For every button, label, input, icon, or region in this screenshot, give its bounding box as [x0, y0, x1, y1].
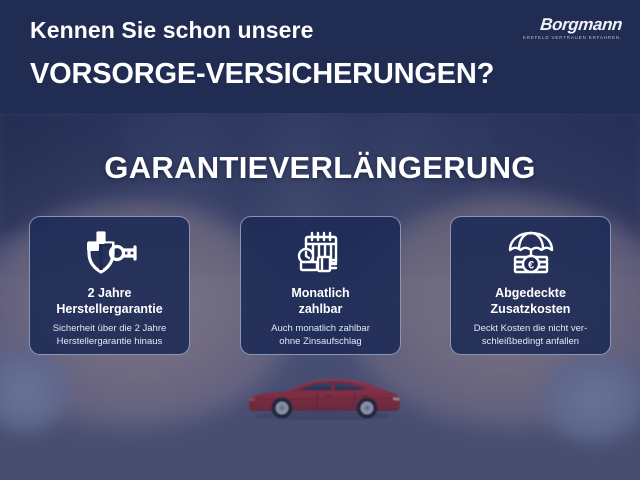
feature-card-title-line2: zahlbar	[299, 302, 343, 316]
feature-card-desc-line2: schleißbedingt anfallen	[482, 336, 579, 347]
header-bar: Kennen Sie schon unsere VORSORGE-VERSICH…	[0, 0, 640, 113]
svg-text:€: €	[527, 260, 533, 272]
feature-card-title: Abgedeckte Zusatzkosten	[491, 286, 571, 317]
banner-stage: Kennen Sie schon unsere VORSORGE-VERSICH…	[0, 0, 640, 480]
header-headline-text: VORSORGE-VERSICHERUNGEN?	[30, 58, 494, 91]
feature-card-description: Deckt Kosten die nicht ver- schleißbedin…	[466, 323, 596, 348]
feature-card-title: Monatlich zahlbar	[291, 286, 349, 317]
brand-logo[interactable]: Borgmann Krefeld Vertrauen erfahren.	[523, 16, 622, 40]
feature-card-title-line2: Zusatzkosten	[491, 302, 571, 316]
feature-card-description: Sicherheit über die 2 Jahre Herstellerga…	[45, 323, 175, 348]
feature-card-desc-line1: Auch monatlich zahlbar	[271, 323, 370, 334]
feature-card-extra-costs[interactable]: € Abgedeckte Zusatzkosten Deckt Kosten d…	[450, 216, 611, 355]
feature-card-title: 2 Jahre Herstellergarantie	[56, 286, 162, 317]
brand-logo-tagline: Krefeld Vertrauen erfahren.	[523, 36, 622, 40]
feature-card-desc-line2: ohne Zinsaufschlag	[279, 336, 361, 347]
feature-card-desc-line1: Deckt Kosten die nicht ver-	[474, 323, 588, 334]
umbrella-euro-money-icon: €	[502, 229, 560, 277]
feature-card-description: Auch monatlich zahlbar ohne Zinsaufschla…	[263, 323, 378, 348]
header-eyebrow-text: Kennen Sie schon unsere	[30, 17, 314, 44]
feature-card-title-line1: 2 Jahre	[88, 286, 132, 300]
feature-card-desc-line2: Herstellergarantie hinaus	[57, 336, 163, 347]
feature-card-warranty[interactable]: 2 Jahre Herstellergarantie Sicherheit üb…	[29, 216, 190, 355]
feature-card-title-line1: Monatlich	[291, 286, 349, 300]
feature-card-desc-line1: Sicherheit über die 2 Jahre	[53, 323, 167, 334]
feature-card-monthly-payment[interactable]: Monatlich zahlbar Auch monatlich zahlbar…	[240, 216, 401, 355]
feature-card-title-line1: Abgedeckte	[495, 286, 566, 300]
feature-card-title-line2: Herstellergarantie	[56, 302, 162, 316]
shield-key-icon	[81, 229, 139, 277]
calendar-clock-cash-icon	[292, 229, 350, 277]
brand-logo-name: Borgmann	[522, 16, 623, 33]
